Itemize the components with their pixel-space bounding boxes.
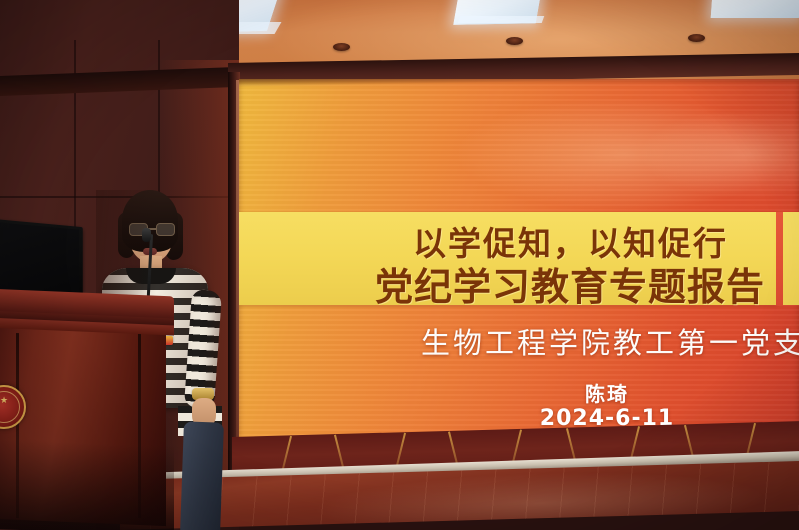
slide-subtitle: 生物工程学院教工第一党支部: [421, 320, 799, 362]
slide-presenter-name-row: 陈琦: [239, 378, 799, 407]
lens-right: [156, 223, 175, 236]
seal-glyph: ★: [0, 396, 24, 406]
banner-divider-gap: [776, 212, 783, 305]
ceiling-downlight-2: [506, 37, 523, 45]
ceiling-downlight-1: [333, 43, 350, 51]
light-panel-glow: [711, 0, 799, 18]
projection-screen: 以学促知，以知促行 党纪学习教育专题报告 生物工程学院教工第一党支部 陈琦 20…: [239, 79, 799, 441]
microphone-head-icon: [142, 228, 151, 242]
slide-title-banner: 以学促知，以知促行 党纪学习教育专题报告: [239, 212, 799, 305]
photograph-scene: 以学促知，以知促行 党纪学习教育专题报告 生物工程学院教工第一党支部 陈琦 20…: [0, 0, 799, 530]
ceiling-light-panel-3: [711, 0, 799, 18]
ceiling-downlight-3: [688, 34, 705, 42]
screen-hotspot-2: [639, 109, 799, 199]
light-panel-bevel-2: [458, 16, 545, 23]
slide-title-line-2: 党纪学习教育专题报告: [375, 256, 765, 311]
jeans: [180, 421, 224, 530]
banner-secondary-panel: [783, 212, 799, 305]
podium: [0, 289, 174, 530]
slide-presenter-name: 陈琦: [585, 378, 629, 407]
podium-lower-shadow: [0, 439, 174, 530]
